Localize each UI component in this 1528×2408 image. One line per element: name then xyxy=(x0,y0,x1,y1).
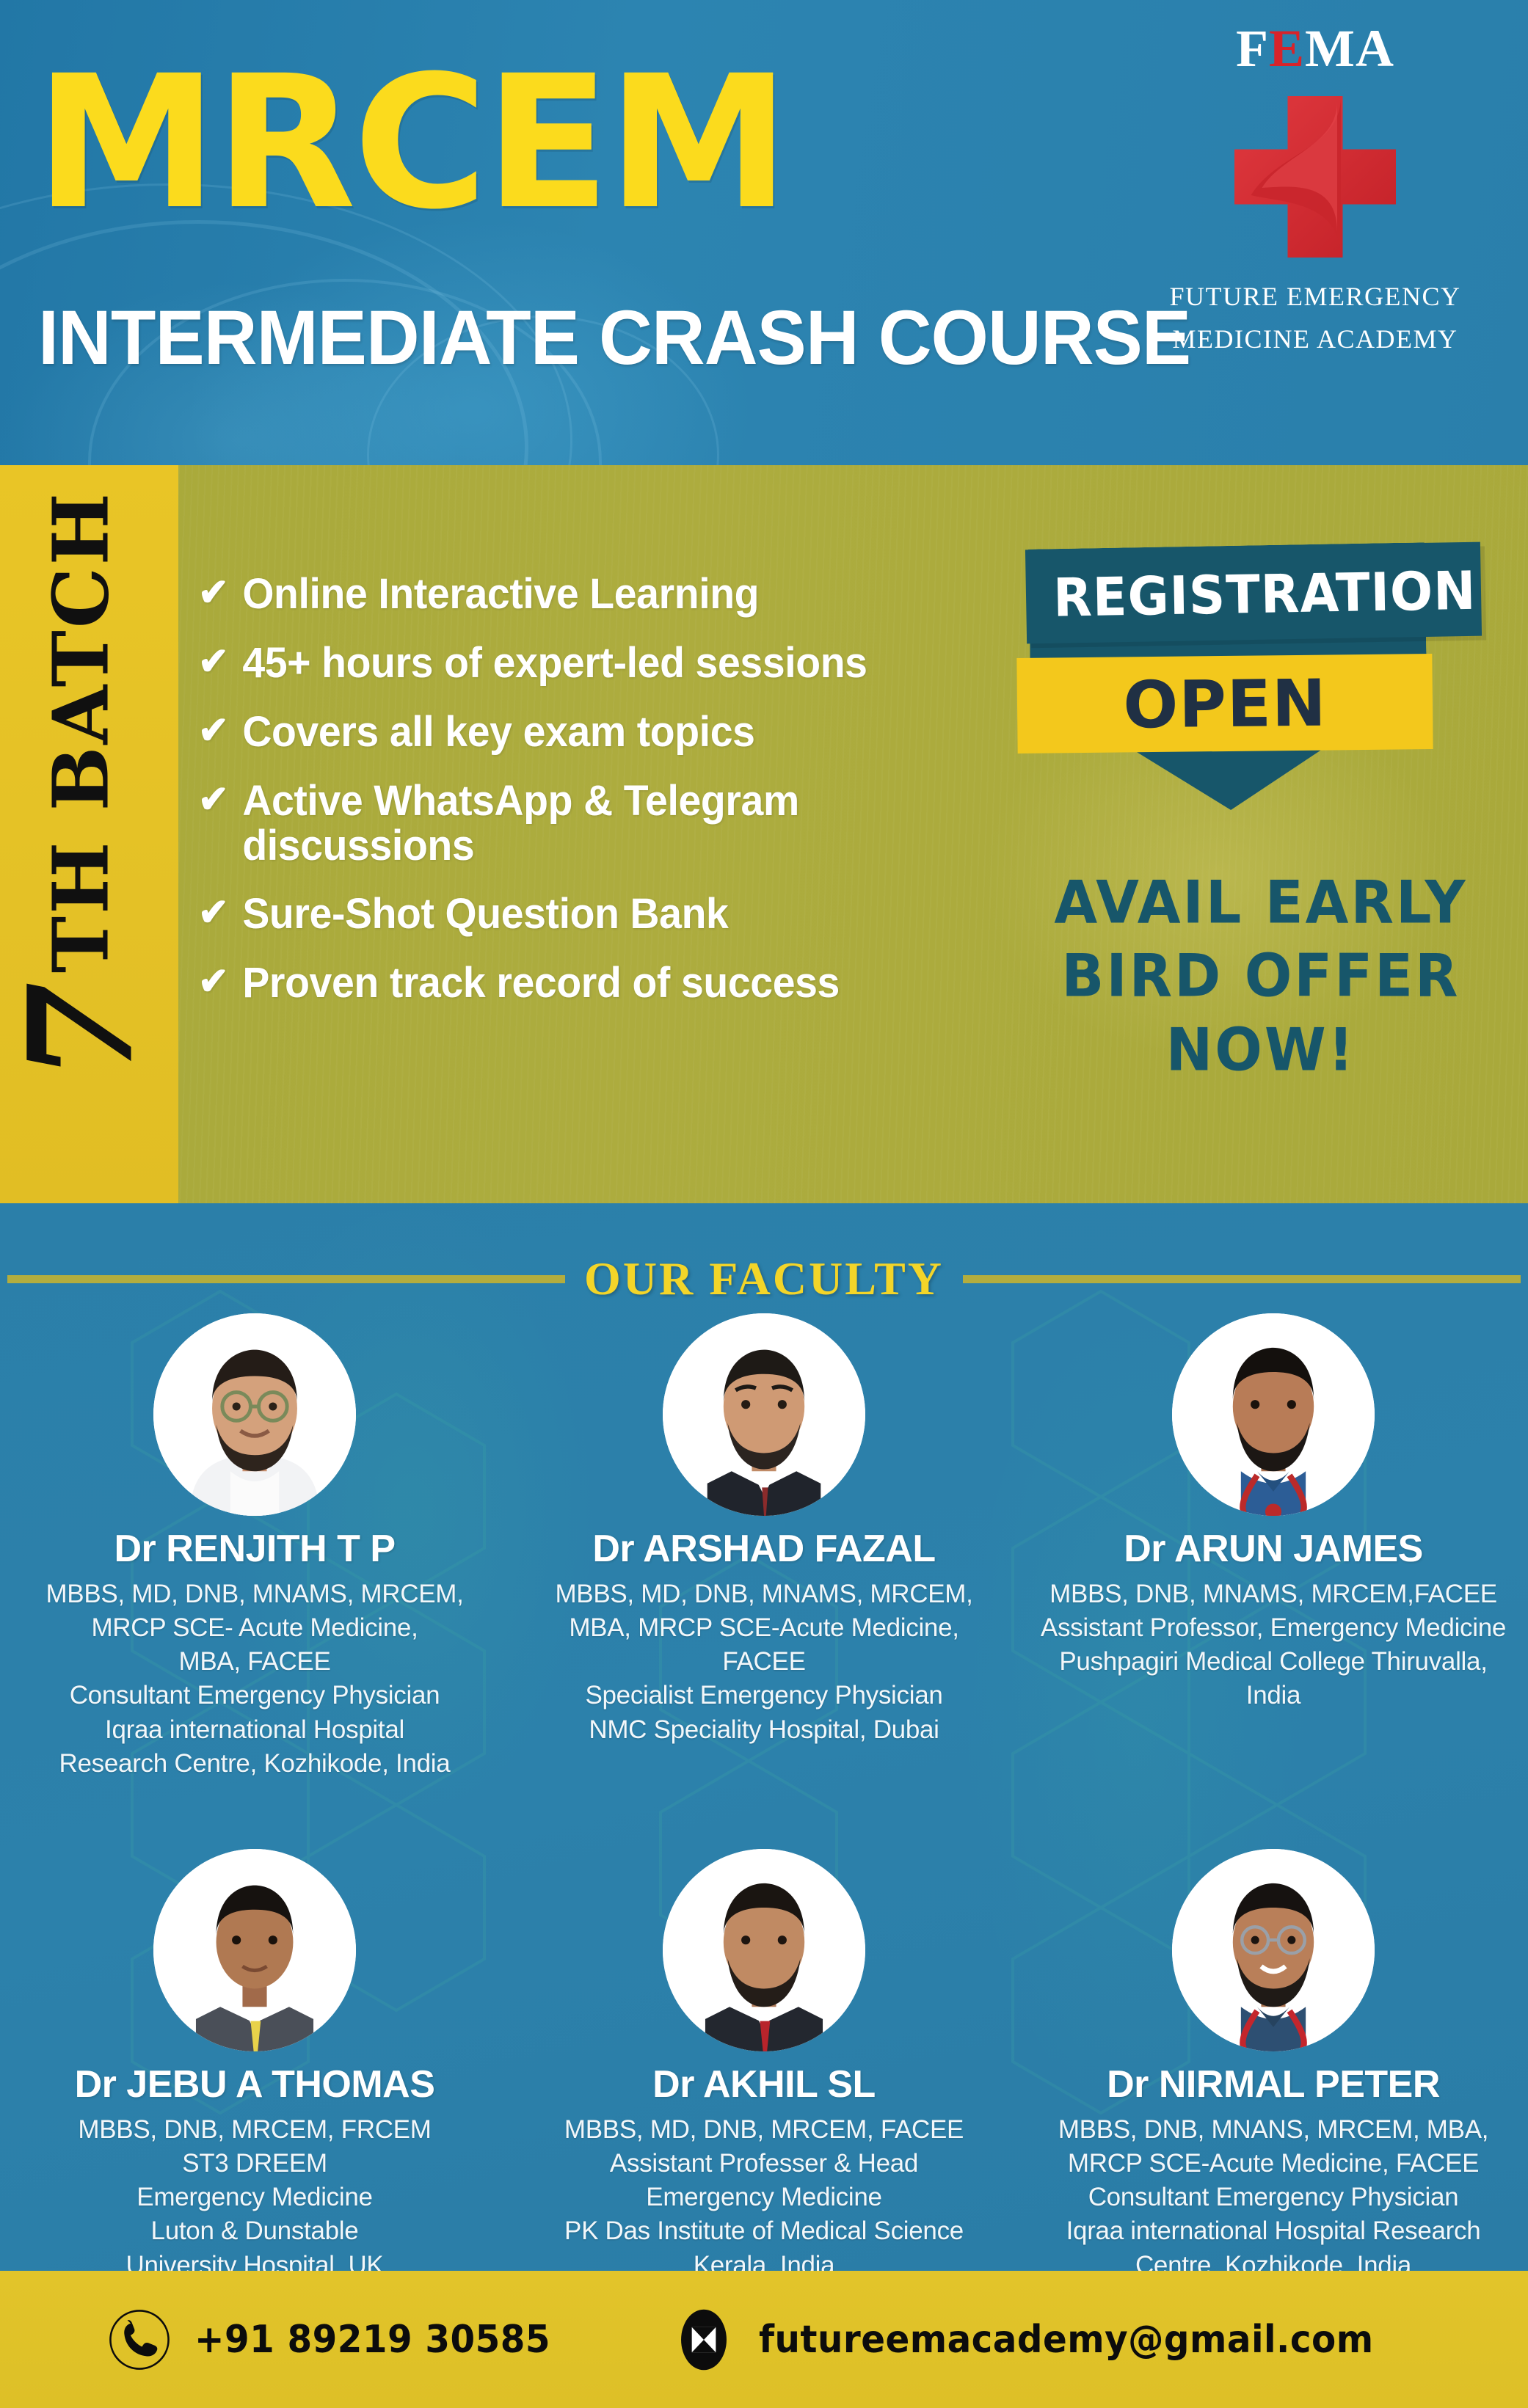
faculty-credential: MBBS, DNB, MNAMS, MRCEM,FACEE xyxy=(1035,1577,1512,1611)
faculty-card: Dr NIRMAL PETER MBBS, DNB, MNANS, MRCEM,… xyxy=(1019,1849,1528,2271)
faculty-name: Dr ARUN JAMES xyxy=(1035,1528,1512,1572)
faculty-name: Dr RENJITH T P xyxy=(16,1528,493,1572)
faculty-credential: Pushpagiri Medical College Thiruvalla, xyxy=(1035,1645,1512,1679)
faculty-card: Dr ARUN JAMES MBBS, DNB, MNAMS, MRCEM,FA… xyxy=(1019,1313,1528,1781)
feature-item: ✔ Active WhatsApp & Telegram discussions xyxy=(198,779,976,869)
faculty-card: Dr JEBU A THOMAS MBBS, DNB, MRCEM, FRCEM… xyxy=(0,1849,509,2271)
logo-acronym-f: F xyxy=(1236,19,1269,78)
envelope-icon xyxy=(672,2308,735,2371)
feature-label: Active WhatsApp & Telegram discussions xyxy=(242,779,976,869)
avatar xyxy=(663,1849,865,2051)
avatar xyxy=(1172,1313,1375,1516)
logo-acronym-e: E xyxy=(1269,19,1305,78)
faculty-header: OUR FACULTY xyxy=(0,1252,1528,1306)
early-bird-offer: AVAIL EARLY BIRD OFFER NOW! xyxy=(1004,866,1518,1087)
avatar xyxy=(153,1849,356,2051)
registration-banner: REGISTRATION xyxy=(1025,542,1482,644)
phone-number: +91 89219 30585 xyxy=(194,2318,550,2362)
faculty-credential: ST3 DREEM xyxy=(16,2147,493,2181)
check-icon: ✔ xyxy=(198,892,228,934)
feature-label: Proven track record of success xyxy=(242,961,840,1006)
feature-label: Covers all key exam topics xyxy=(242,710,754,755)
faculty-section-title: OUR FACULTY xyxy=(584,1252,944,1306)
logo-acronym-ma: MA xyxy=(1305,19,1394,78)
faculty-credential: MBBS, DNB, MNANS, MRCEM, MBA, xyxy=(1035,2113,1512,2147)
faculty-name: Dr NIRMAL PETER xyxy=(1035,2063,1512,2107)
feature-item: ✔ 45+ hours of expert-led sessions xyxy=(198,641,976,686)
logo-name-line1: FUTURE EMERGENCY xyxy=(1161,276,1469,318)
phone-icon xyxy=(108,2308,171,2371)
faculty-credential: MBBS, MD, DNB, MNAMS, MRCEM, xyxy=(525,1577,1003,1611)
contact-footer: +91 89219 30585 futureemacademy@gmail.co… xyxy=(0,2271,1528,2408)
faculty-credential: Consultant Emergency Physician xyxy=(16,1679,493,1712)
faculty-credential: Assistant Professor, Emergency Medicine xyxy=(1035,1611,1512,1645)
medical-cross-swoosh-icon xyxy=(1223,85,1407,269)
features-list: ✔ Online Interactive Learning ✔ 45+ hour… xyxy=(198,572,1013,1030)
faculty-card: Dr ARSHAD FAZAL MBBS, MD, DNB, MNAMS, MR… xyxy=(509,1313,1019,1781)
faculty-credential: Assistant Professer & Head xyxy=(525,2147,1003,2181)
feature-label: Sure-Shot Question Bank xyxy=(242,892,728,937)
check-icon: ✔ xyxy=(198,572,228,614)
feature-item: ✔ Covers all key exam topics xyxy=(198,710,976,755)
faculty-credential: Kerala, India xyxy=(525,2249,1003,2271)
faculty-credential: MRCP SCE-Acute Medicine, FACEE xyxy=(1035,2147,1512,2181)
registration-open-label: OPEN xyxy=(1123,665,1327,743)
faculty-credential: FACEE xyxy=(525,1645,1003,1679)
faculty-credential: MBA, FACEE xyxy=(16,1645,493,1679)
registration-badge[interactable]: REGISTRATION OPEN xyxy=(1026,550,1481,751)
faculty-credential: MBBS, DNB, MRCEM, FRCEM xyxy=(16,2113,493,2147)
faculty-credential: India xyxy=(1035,1679,1512,1712)
phone-contact[interactable]: +91 89219 30585 xyxy=(108,2308,577,2371)
faculty-credential: Iqraa international Hospital xyxy=(16,1713,493,1747)
feature-item: ✔ Sure-Shot Question Bank xyxy=(198,892,976,937)
email-address: futureemacademy@gmail.com xyxy=(759,2318,1374,2362)
logo-acronym: FEMA xyxy=(1161,22,1469,75)
faculty-credential: MRCP SCE- Acute Medicine, xyxy=(16,1611,493,1645)
feature-label: 45+ hours of expert-led sessions xyxy=(242,641,867,686)
faculty-card: Dr AKHIL SL MBBS, MD, DNB, MRCEM, FACEE … xyxy=(509,1849,1019,2271)
course-subtitle: INTERMEDIATE CRASH COURSE xyxy=(38,299,1190,376)
feature-item: ✔ Online Interactive Learning xyxy=(198,572,976,617)
faculty-credential: Emergency Medicine xyxy=(525,2181,1003,2214)
faculty-credential: Specialist Emergency Physician xyxy=(525,1679,1003,1712)
faculty-credential: Consultant Emergency Physician xyxy=(1035,2181,1512,2214)
faculty-credential: PK Das Institute of Medical Science xyxy=(525,2214,1003,2248)
faculty-credential: University Hospital, UK xyxy=(16,2249,493,2271)
faculty-credential: NMC Speciality Hospital, Dubai xyxy=(525,1713,1003,1747)
faculty-credential: Emergency Medicine xyxy=(16,2181,493,2214)
fema-logo: FEMA FUTURE EMERGENCY MEDICINE ACADEMY xyxy=(1161,22,1469,360)
avatar xyxy=(1172,1849,1375,2051)
course-title: MRCEM xyxy=(35,59,787,227)
check-icon: ✔ xyxy=(198,779,228,821)
avatar xyxy=(663,1313,865,1516)
feature-item: ✔ Proven track record of success xyxy=(198,961,976,1006)
avatar xyxy=(153,1313,356,1516)
offer-line-1: AVAIL EARLY xyxy=(1004,864,1518,941)
poster-root: MRCEM INTERMEDIATE CRASH COURSE FEMA FUT… xyxy=(0,0,1528,2408)
faculty-credential: Luton & Dunstable xyxy=(16,2214,493,2248)
check-icon: ✔ xyxy=(198,710,228,752)
faculty-section: OUR FACULTY xyxy=(0,1203,1528,2271)
offer-line-2: BIRD OFFER xyxy=(1004,937,1518,1015)
faculty-credential: Research Centre, Kozhikode, India xyxy=(16,1747,493,1781)
faculty-row-1: Dr RENJITH T P MBBS, MD, DNB, MNAMS, MRC… xyxy=(0,1313,1528,1781)
check-icon: ✔ xyxy=(198,641,228,683)
batch-label: 7TH BATCH xyxy=(10,465,153,1109)
batch-number: 7 xyxy=(10,986,153,1081)
email-contact[interactable]: futureemacademy@gmail.com xyxy=(672,2308,1420,2371)
faculty-row-2: Dr JEBU A THOMAS MBBS, DNB, MRCEM, FRCEM… xyxy=(0,1849,1528,2271)
faculty-credential: Centre, Kozhikode, India xyxy=(1035,2249,1512,2271)
faculty-name: Dr JEBU A THOMAS xyxy=(16,2063,493,2107)
faculty-name: Dr AKHIL SL xyxy=(525,2063,1003,2107)
faculty-name: Dr ARSHAD FAZAL xyxy=(525,1528,1003,1572)
offer-line-3: NOW! xyxy=(1004,1011,1518,1089)
registration-open-banner: OPEN xyxy=(1016,654,1433,754)
faculty-credential: MBA, MRCP SCE-Acute Medicine, xyxy=(525,1611,1003,1645)
logo-name-line2: MEDICINE ACADEMY xyxy=(1161,318,1469,361)
batch-text: TH BATCH xyxy=(43,491,119,973)
feature-label: Online Interactive Learning xyxy=(242,572,759,617)
faculty-card: Dr RENJITH T P MBBS, MD, DNB, MNAMS, MRC… xyxy=(0,1313,509,1781)
divider-left xyxy=(7,1275,565,1283)
faculty-credential: Iqraa international Hospital Research xyxy=(1035,2214,1512,2248)
faculty-credential: MBBS, MD, DNB, MNAMS, MRCEM, xyxy=(16,1577,493,1611)
divider-right xyxy=(963,1275,1521,1283)
check-icon: ✔ xyxy=(198,961,228,1003)
faculty-credential: MBBS, MD, DNB, MRCEM, FACEE xyxy=(525,2113,1003,2147)
registration-label: REGISTRATION xyxy=(1053,564,1477,624)
